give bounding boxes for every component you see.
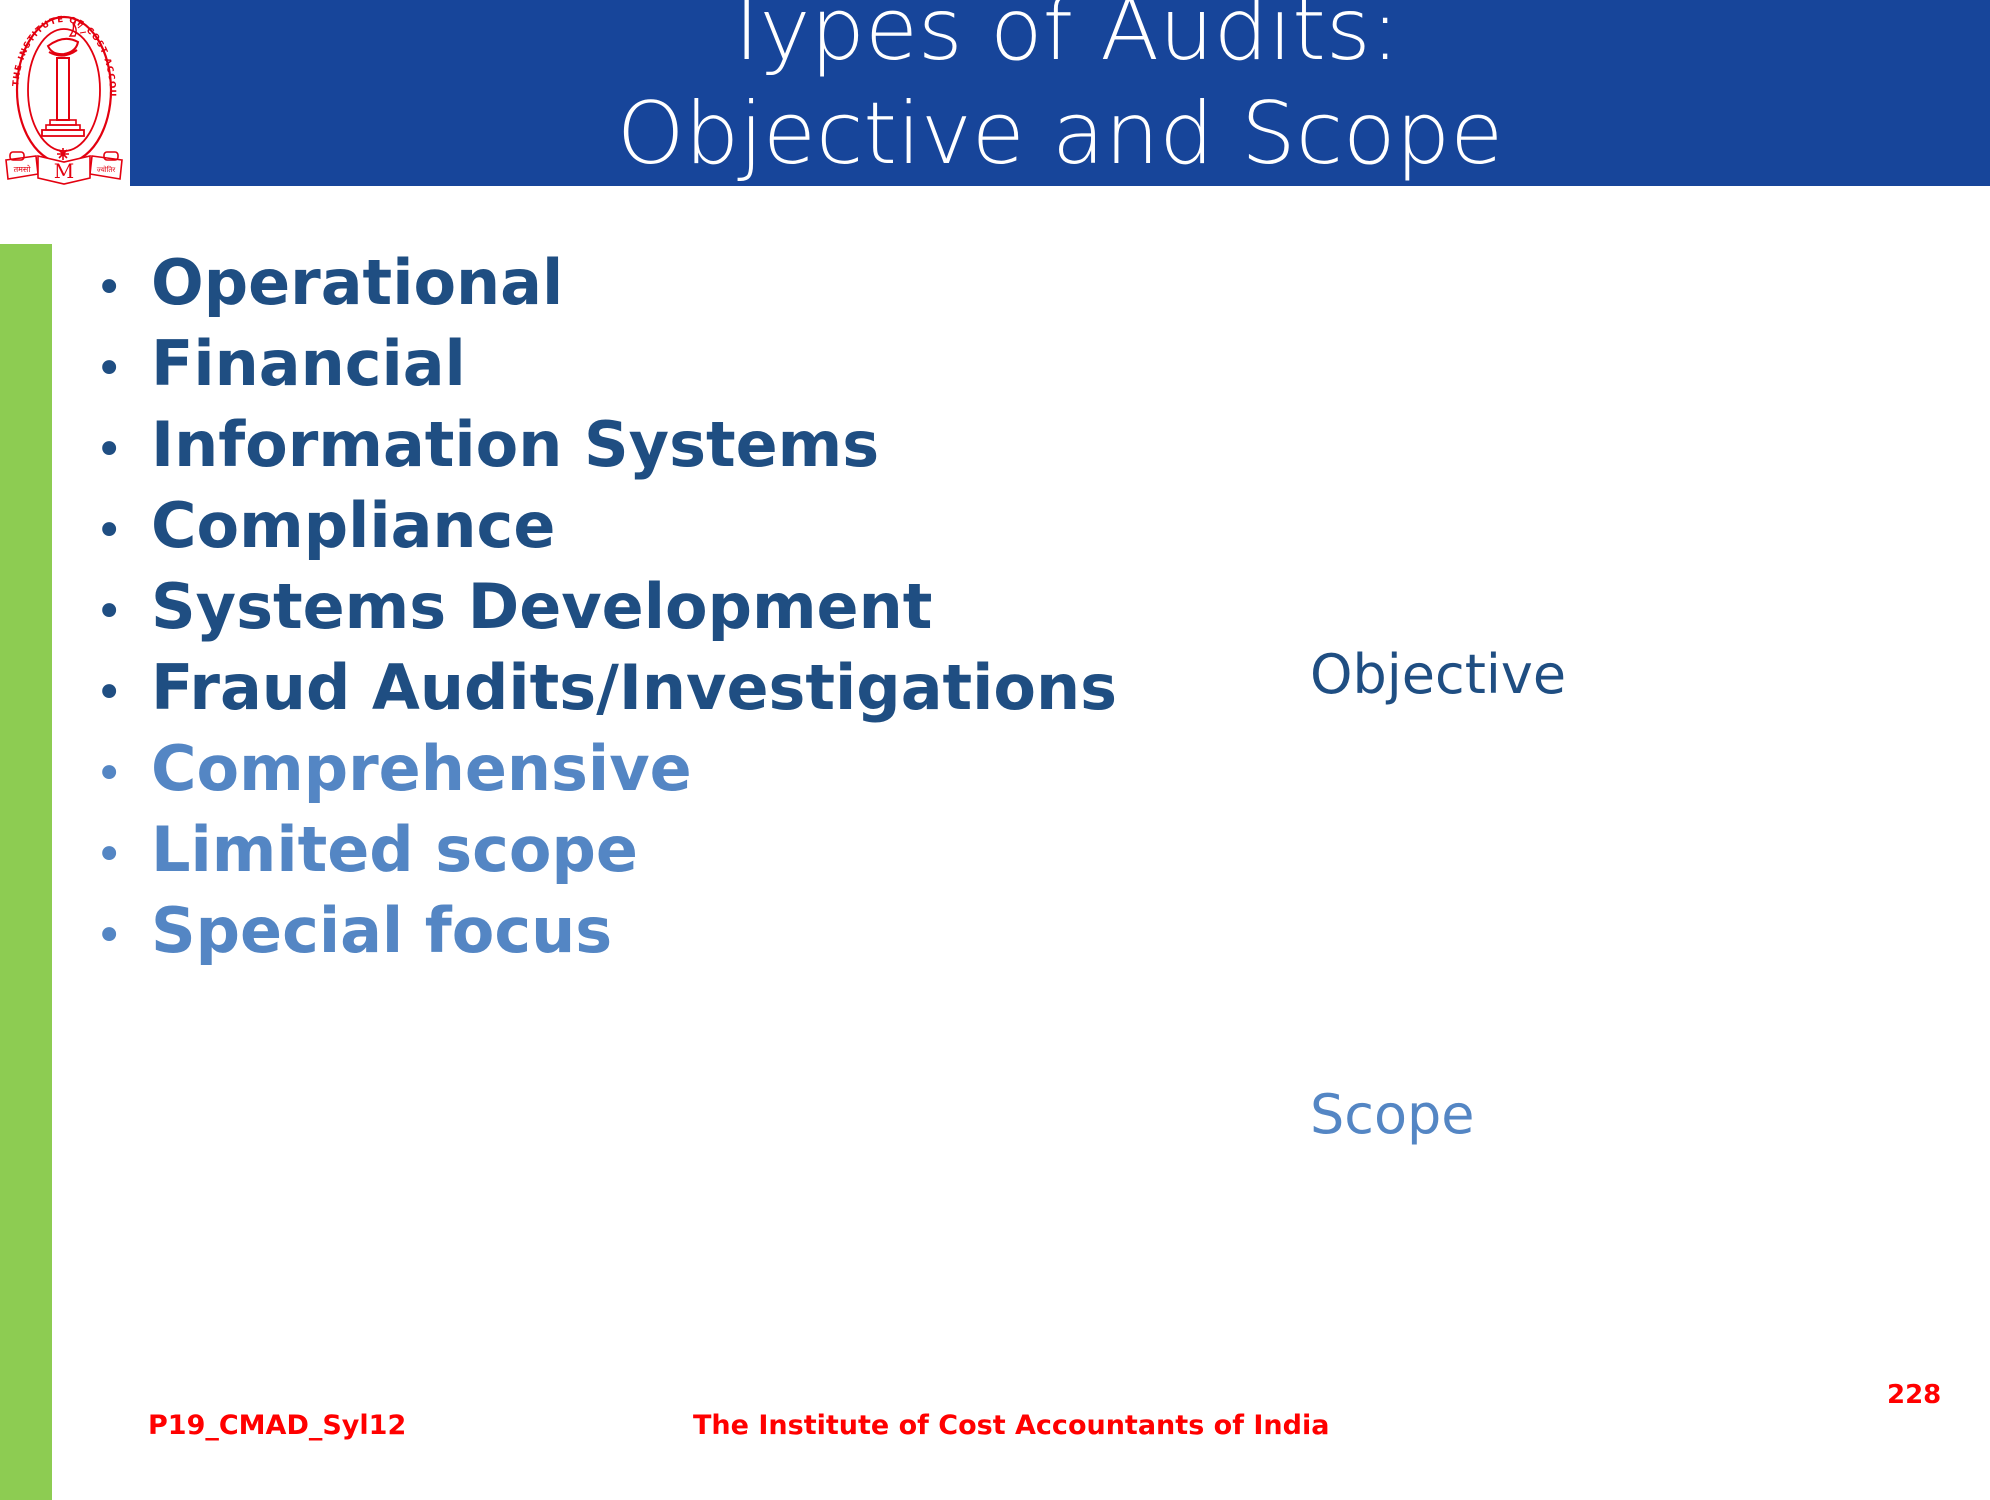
list-item-label: Compliance xyxy=(151,495,555,557)
presentation-slide: Types of Audits: Objective and Scope THE… xyxy=(0,0,1990,1500)
footer-institute-name: The Institute of Cost Accountants of Ind… xyxy=(693,1412,1329,1439)
bullet-dot-icon: • xyxy=(95,507,151,555)
bullet-dot-icon: • xyxy=(95,831,151,879)
footer-course-code: P19_CMAD_Syl12 xyxy=(148,1412,406,1439)
institute-logo-icon: THE INSTITUTE OF COST ACCOUNTANTS OF IND… xyxy=(4,2,124,186)
slide-page-number: 228 xyxy=(1887,1382,1941,1408)
left-accent-bar xyxy=(0,244,52,1500)
list-item-label: Comprehensive xyxy=(151,738,692,800)
bullet-dot-icon: • xyxy=(95,264,151,312)
list-item: • Fraud Audits/Investigations xyxy=(95,657,1245,738)
audit-types-list: • Operational • Financial • Information … xyxy=(95,252,1245,981)
list-item: • Limited scope xyxy=(95,819,1245,900)
category-label-scope: Scope xyxy=(1310,1088,1475,1142)
bullet-dot-icon: • xyxy=(95,669,151,717)
list-item: • Compliance xyxy=(95,495,1245,576)
list-item-label: Fraud Audits/Investigations xyxy=(151,657,1117,719)
bullet-dot-icon: • xyxy=(95,345,151,393)
bullet-dot-icon: • xyxy=(95,588,151,636)
bullet-dot-icon: • xyxy=(95,426,151,474)
list-item: • Information Systems xyxy=(95,414,1245,495)
list-item: • Comprehensive xyxy=(95,738,1245,819)
list-item: • Operational xyxy=(95,252,1245,333)
svg-text:तमसो: तमसो xyxy=(14,164,32,174)
list-item-label: Limited scope xyxy=(151,819,638,881)
header-band xyxy=(130,0,1990,186)
svg-text:ज्योतिर: ज्योतिर xyxy=(97,165,116,174)
list-item-label: Financial xyxy=(151,333,466,395)
svg-text:M: M xyxy=(54,159,74,183)
list-item: • Systems Development xyxy=(95,576,1245,657)
list-item-label: Information Systems xyxy=(151,414,879,476)
list-item-label: Systems Development xyxy=(151,576,932,638)
bullet-dot-icon: • xyxy=(95,750,151,798)
category-label-objective: Objective xyxy=(1310,648,1566,702)
bullet-dot-icon: • xyxy=(95,912,151,960)
list-item-label: Special focus xyxy=(151,900,612,962)
list-item-label: Operational xyxy=(151,252,563,314)
list-item: • Financial xyxy=(95,333,1245,414)
list-item: • Special focus xyxy=(95,900,1245,981)
